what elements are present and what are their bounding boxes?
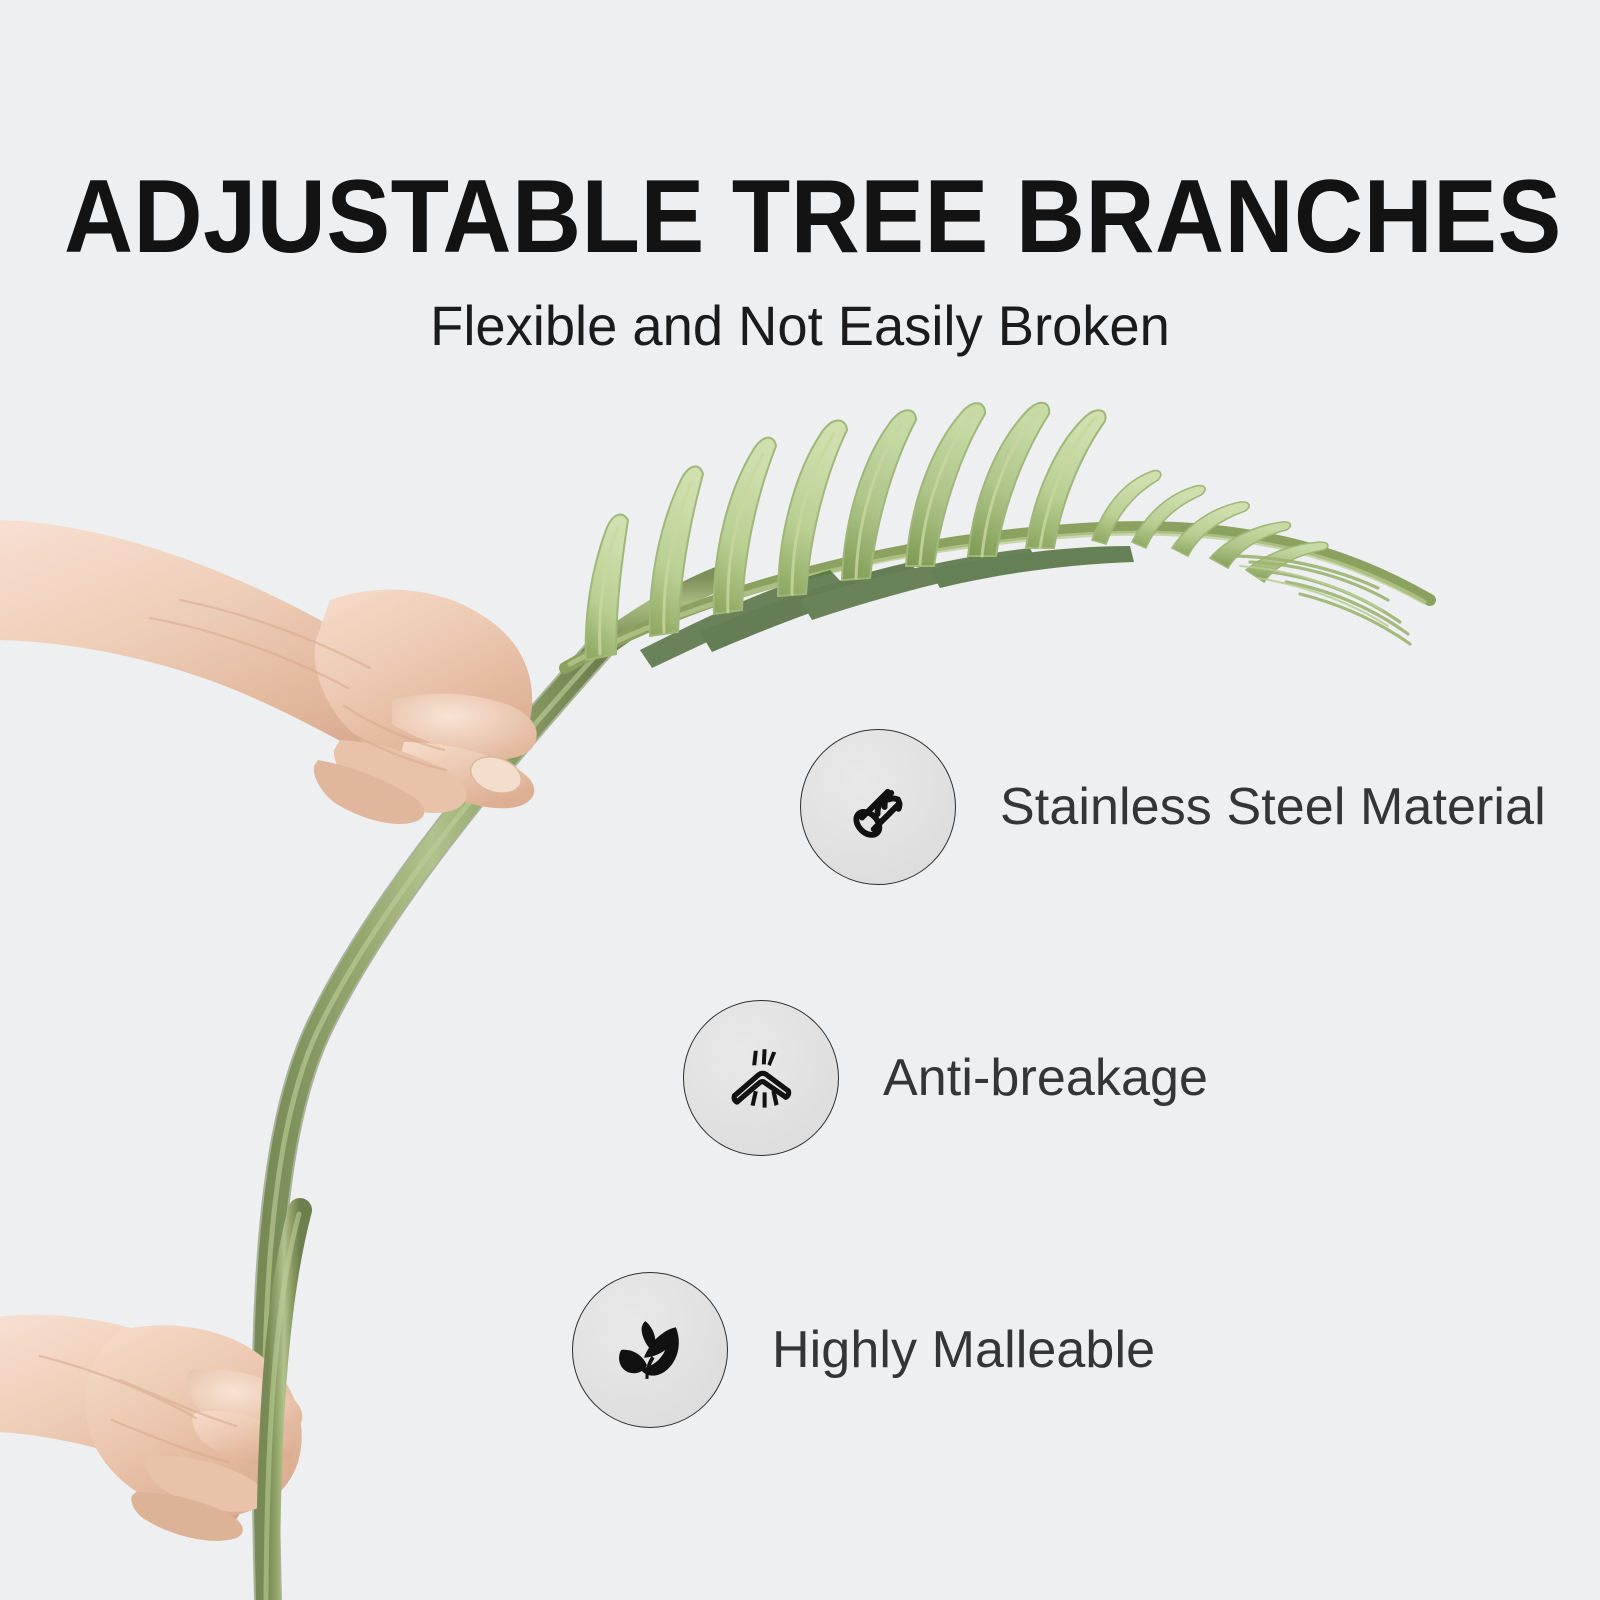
bent-rod-impact-icon bbox=[721, 1038, 801, 1118]
coiled-steel-tube-icon bbox=[839, 768, 917, 846]
lower-hand-grip bbox=[0, 1315, 302, 1541]
curved-stem bbox=[264, 578, 720, 1600]
feature-badge bbox=[683, 1000, 839, 1156]
palm-frond-leaflets bbox=[565, 403, 1430, 668]
page-subtitle: Flexible and Not Easily Broken bbox=[24, 297, 1576, 356]
product-feature-graphic: ADJUSTABLE TREE BRANCHES Flexible and No… bbox=[0, 0, 1600, 1600]
feature-label: Anti-breakage bbox=[883, 1048, 1208, 1108]
headline-block: ADJUSTABLE TREE BRANCHES Flexible and No… bbox=[0, 165, 1600, 356]
leaf-cluster-icon bbox=[612, 1312, 688, 1388]
feature-badge bbox=[572, 1272, 728, 1428]
feature-item-anti-breakage: Anti-breakage bbox=[683, 1000, 1208, 1156]
feature-label: Highly Malleable bbox=[772, 1320, 1155, 1380]
feature-item-highly-malleable: Highly Malleable bbox=[572, 1272, 1155, 1428]
feature-label: Stainless Steel Material bbox=[1000, 777, 1546, 837]
feature-item-stainless-steel: Stainless Steel Material bbox=[800, 729, 1546, 885]
page-title: ADJUSTABLE TREE BRANCHES bbox=[64, 165, 1536, 269]
feature-badge bbox=[800, 729, 956, 885]
upper-hand-grip bbox=[0, 520, 537, 824]
